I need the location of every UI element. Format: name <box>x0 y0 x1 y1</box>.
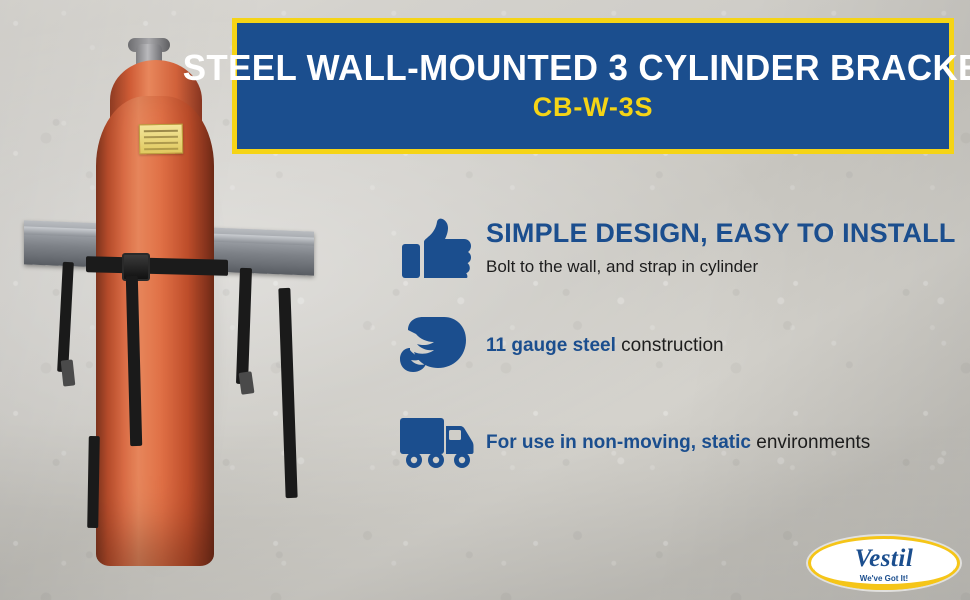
feature-strong-text: 11 gauge steel <box>486 335 616 356</box>
strap-end <box>239 371 255 395</box>
feature-text: For use in non-moving, static environmen… <box>486 430 956 454</box>
cylinder-warning-label <box>139 124 184 155</box>
strap-end <box>61 359 76 386</box>
vestil-logo: Vestil We've Got It! <box>808 536 960 590</box>
title-card: STEEL WALL-MOUNTED 3 CYLINDER BRACKET CB… <box>232 18 954 154</box>
feature-item: 11 gauge steel construction <box>400 314 956 376</box>
feature-line: 11 gauge steel construction <box>486 335 956 357</box>
feature-item: SIMPLE DESIGN, EASY TO INSTALL Bolt to t… <box>400 216 956 280</box>
feature-line: For use in non-moving, static environmen… <box>486 432 956 454</box>
feature-list: SIMPLE DESIGN, EASY TO INSTALL Bolt to t… <box>400 216 956 472</box>
gas-cylinder <box>96 96 214 566</box>
product-model-number: CB-W-3S <box>533 92 654 123</box>
strap <box>57 262 74 372</box>
flexed-bicep-icon <box>400 314 486 376</box>
product-title: STEEL WALL-MOUNTED 3 CYLINDER BRACKET <box>183 49 970 87</box>
feature-rest-text: construction <box>616 335 724 356</box>
strap <box>236 268 252 384</box>
strap <box>278 288 297 498</box>
feature-subtext: Bolt to the wall, and strap in cylinder <box>486 257 956 277</box>
feature-strong-text: For use in non-moving, static <box>486 432 751 453</box>
brand-tagline: We've Got It! <box>808 574 960 583</box>
brand-name: Vestil <box>808 545 960 573</box>
delivery-truck-icon <box>400 412 486 472</box>
product-banner: STEEL WALL-MOUNTED 3 CYLINDER BRACKET CB… <box>0 0 970 600</box>
feature-rest-text: environments <box>751 432 870 453</box>
strap <box>87 436 100 528</box>
feature-heading: SIMPLE DESIGN, EASY TO INSTALL <box>486 218 956 249</box>
thumbs-up-icon <box>400 216 486 280</box>
feature-item: For use in non-moving, static environmen… <box>400 412 956 472</box>
feature-text: 11 gauge steel construction <box>486 333 956 357</box>
feature-text: SIMPLE DESIGN, EASY TO INSTALL Bolt to t… <box>486 216 956 277</box>
